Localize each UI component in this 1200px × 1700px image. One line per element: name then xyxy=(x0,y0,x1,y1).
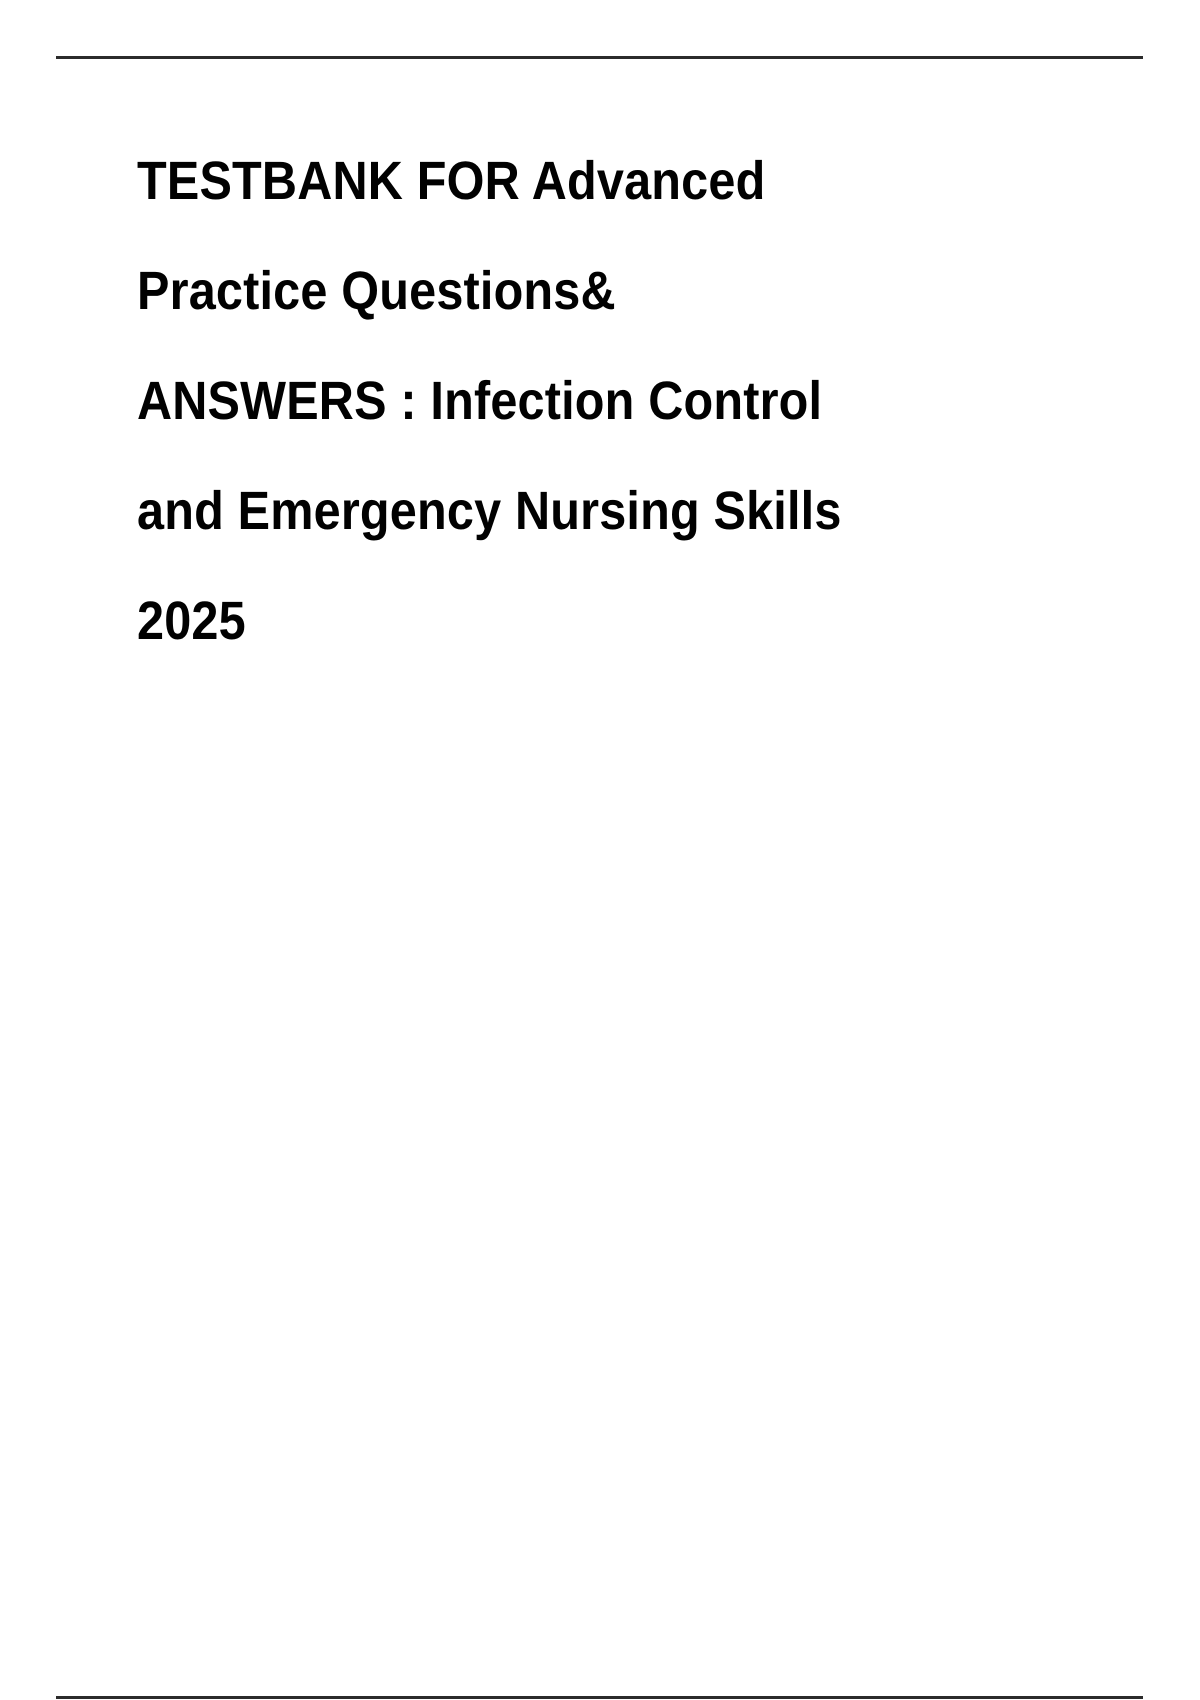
page-title: TESTBANK FOR Advanced Practice Questions… xyxy=(137,126,1097,676)
header-divider-rule xyxy=(56,56,1143,59)
title-line-1: TESTBANK FOR Advanced xyxy=(137,126,1001,236)
title-line-5: 2025 xyxy=(137,566,1001,676)
footer-divider-rule xyxy=(56,1696,1143,1699)
title-line-2: Practice Questions& xyxy=(137,236,1001,346)
document-page: TESTBANK FOR Advanced Practice Questions… xyxy=(0,0,1200,1700)
title-line-3: ANSWERS : Infection Control xyxy=(137,346,1001,456)
title-line-4: and Emergency Nursing Skills xyxy=(137,456,1001,566)
